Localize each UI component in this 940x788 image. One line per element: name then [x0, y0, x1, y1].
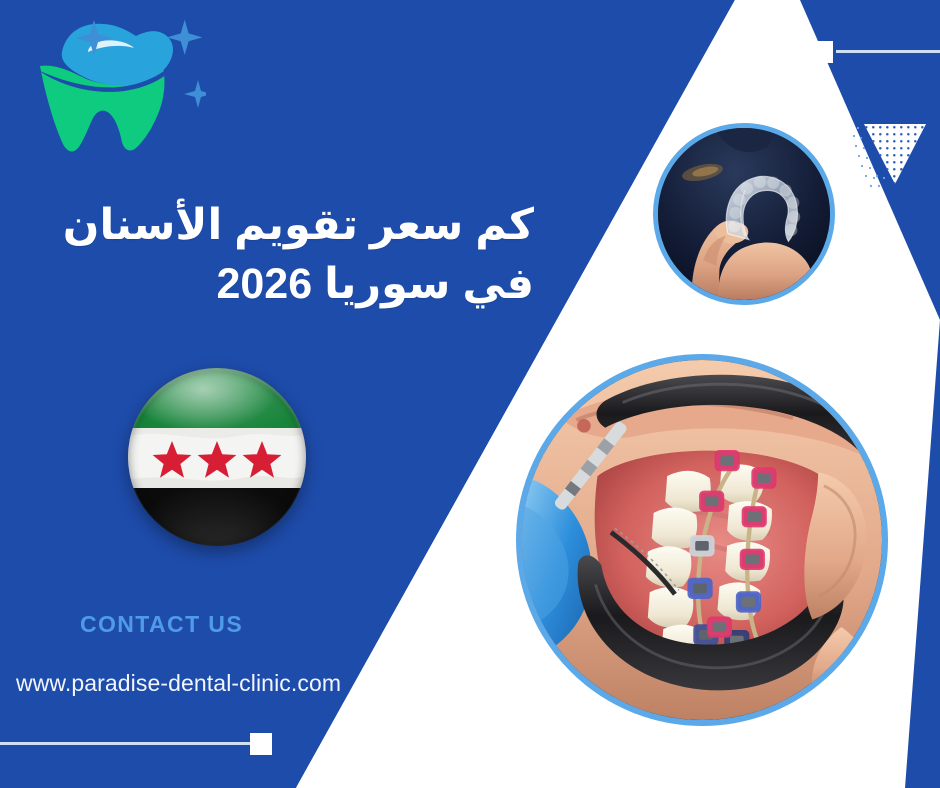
bottom-square-decoration — [250, 733, 272, 755]
contact-us-label: CONTACT US — [80, 611, 243, 638]
dental-clinic-poster: كم سعر تقويم الأسنان في سوريا 2026 CONTA… — [0, 0, 940, 788]
syria-flag-badge — [128, 368, 306, 546]
clear-aligner-illustration — [658, 128, 830, 300]
tooth-logo-icon — [26, 8, 206, 158]
braces-closeup-photo — [516, 354, 888, 726]
website-url[interactable]: www.paradise-dental-clinic.com — [16, 670, 341, 697]
headline-line-2: في سوريا 2026 — [0, 255, 534, 314]
braces-illustration — [522, 360, 882, 720]
clear-aligner-photo — [653, 123, 835, 305]
top-square-decoration — [811, 41, 833, 63]
logo[interactable] — [26, 8, 206, 158]
page-title: كم سعر تقويم الأسنان في سوريا 2026 — [0, 196, 540, 315]
flag-stripes — [128, 368, 306, 546]
top-rule-decoration — [836, 50, 940, 53]
headline-line-1: كم سعر تقويم الأسنان — [0, 196, 534, 255]
dotted-triangle-decoration — [850, 118, 926, 190]
bottom-rule-decoration — [0, 742, 250, 745]
sparkle-icon — [184, 80, 206, 108]
